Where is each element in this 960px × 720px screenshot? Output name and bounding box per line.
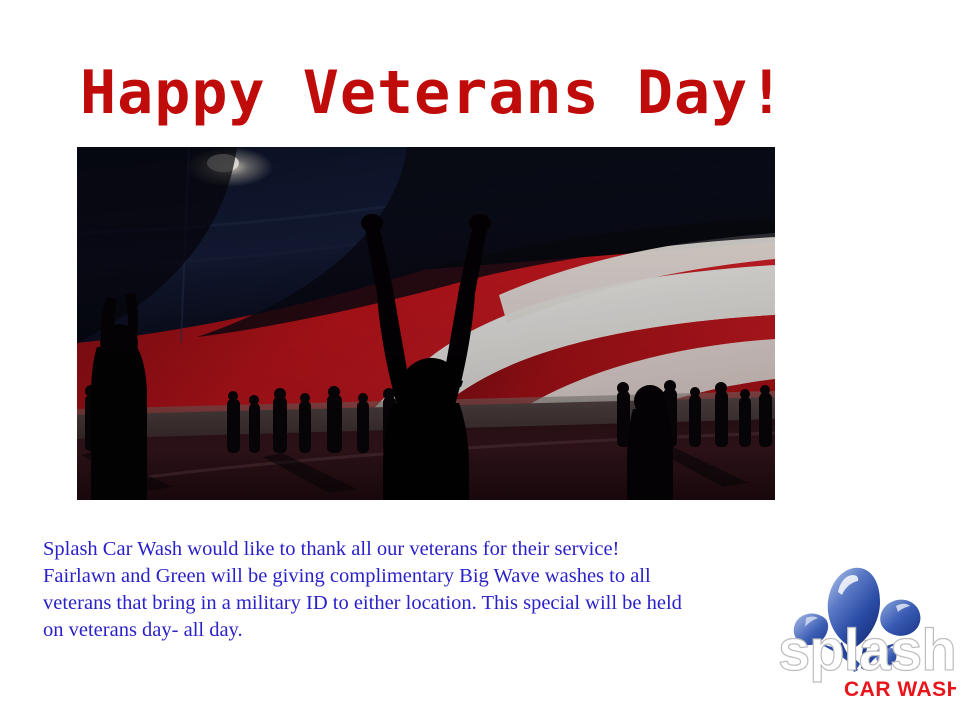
logo-wordmark: splash [778,618,956,683]
announcement-paragraph: Splash Car Wash would like to thank all … [43,536,833,644]
splash-logo-artwork: splash CAR WASH [776,552,956,704]
announcement-line-1: Splash Car Wash would like to thank all … [43,536,833,563]
veterans-day-flag-photo [77,147,775,500]
flag-photo-artwork [77,147,775,500]
announcement-line-4: on veterans day- all day. [43,617,833,644]
logo-tagline: CAR WASH [844,678,956,701]
page-title: Happy Veterans Day! [80,58,880,128]
announcement-line-3: veterans that bring in a military ID to … [43,590,833,617]
slide-canvas: Happy Veterans Day! [0,0,960,720]
splash-car-wash-logo: splash CAR WASH [776,552,956,704]
announcement-line-2: Fairlawn and Green will be giving compli… [43,563,833,590]
